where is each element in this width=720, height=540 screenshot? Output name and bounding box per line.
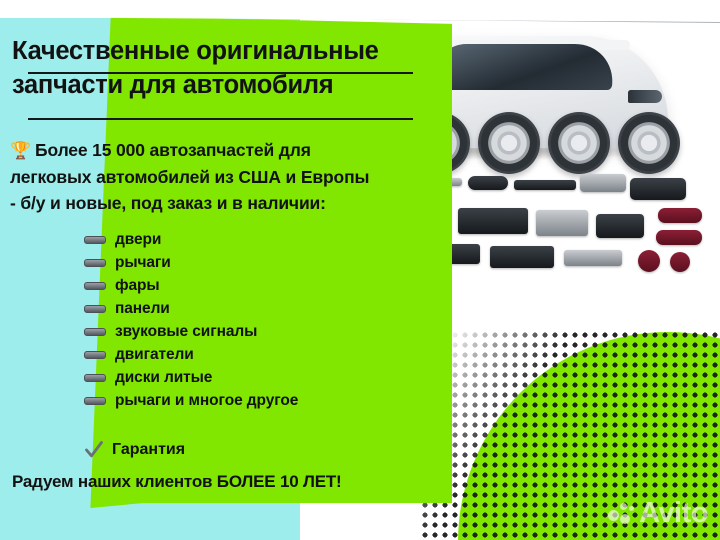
headline-line-1: Качественные оригинальные — [12, 34, 442, 68]
headline-rule-bottom — [28, 118, 413, 120]
wheel — [478, 112, 540, 174]
bullet-marker-icon — [84, 328, 106, 336]
list-item: звуковые сигналы — [84, 320, 444, 343]
list-item: фары — [84, 274, 444, 297]
bullet-marker-icon — [84, 236, 106, 244]
list-item-label: панели — [115, 300, 170, 318]
advertisement-banner: Качественные оригинальные запчасти для а… — [0, 0, 720, 540]
bullet-marker-icon — [84, 351, 106, 359]
page-title: Качественные оригинальные запчасти для а… — [12, 34, 442, 102]
tagline: Радуем наших клиентов БОЛЕЕ 10 ЛЕТ! — [12, 472, 452, 492]
trophy-icon: 🏆 — [10, 141, 31, 160]
bullet-marker-icon — [84, 259, 106, 267]
list-item-label: диски литые — [115, 369, 212, 387]
bullet-marker-icon — [84, 397, 106, 405]
check-mark-icon — [84, 440, 104, 460]
headline-rule-top — [28, 72, 413, 74]
list-item: рычаги — [84, 251, 444, 274]
guarantee-row: Гарантия — [84, 440, 185, 460]
intro-paragraph: 🏆Более 15 000 автозапчастей для легковых… — [10, 137, 440, 216]
bullet-marker-icon — [84, 374, 106, 382]
parts-list: двери рычаги фары панели звуковые сигнал… — [84, 228, 444, 412]
list-item-label: двери — [115, 231, 161, 249]
car-windows — [432, 44, 617, 90]
bullet-marker-icon — [84, 305, 106, 313]
wheel — [618, 112, 680, 174]
list-item: двигатели — [84, 343, 444, 366]
intro-line-2: легковых автомобилей из США и Европы — [10, 164, 440, 190]
avito-logo-icon — [608, 503, 634, 525]
banner-content: Качественные оригинальные запчасти для а… — [0, 0, 452, 540]
intro-line-1: 🏆Более 15 000 автозапчастей для — [10, 137, 440, 164]
list-item: диски литые — [84, 366, 444, 389]
list-item-label: фары — [115, 277, 160, 295]
guarantee-label: Гарантия — [112, 441, 185, 459]
list-item: рычаги и многое другое — [84, 389, 444, 412]
list-item: панели — [84, 297, 444, 320]
list-item-label: рычаги — [115, 254, 171, 272]
list-item: двери — [84, 228, 444, 251]
list-item-label: рычаги и многое другое — [115, 392, 298, 410]
intro-line-1-text: Более 15 000 автозапчастей для — [35, 140, 311, 160]
intro-line-3: - б/у и новые, под заказ и в наличии: — [10, 190, 440, 216]
car-headlight — [628, 90, 662, 103]
avito-watermark: Avito — [608, 499, 708, 528]
avito-watermark-text: Avito — [639, 499, 708, 528]
list-item-label: звуковые сигналы — [115, 323, 257, 341]
bullet-marker-icon — [84, 282, 106, 290]
wheel — [548, 112, 610, 174]
list-item-label: двигатели — [115, 346, 194, 364]
